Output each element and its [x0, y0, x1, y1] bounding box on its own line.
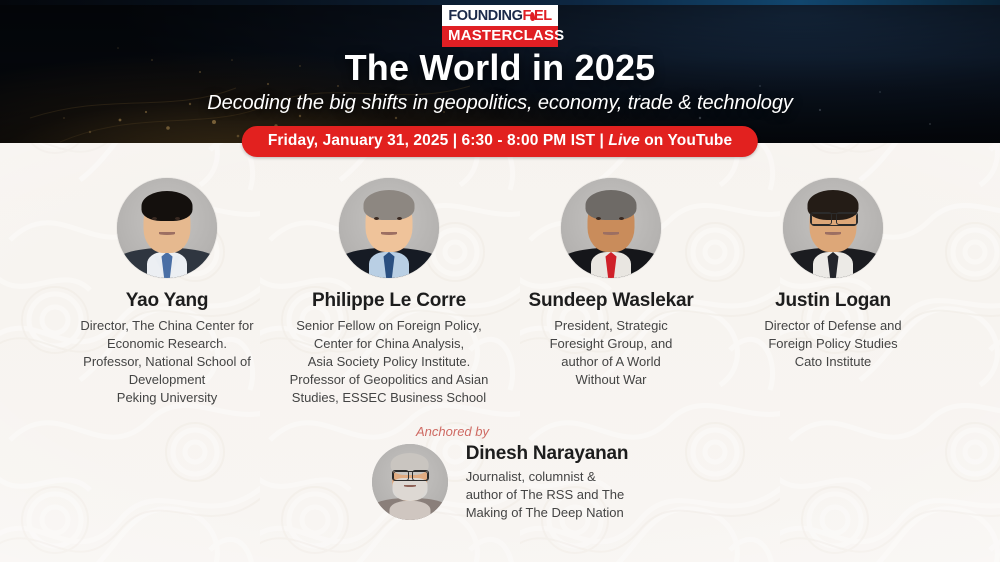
portrait-yao-yang: [117, 178, 217, 278]
logo-masterclass-text: MASTERCLASS: [442, 26, 558, 47]
logo-founding-text: FOUNDING: [448, 8, 522, 24]
logo-fuel-el: EL: [534, 8, 552, 24]
eyeglasses-icon: [393, 471, 428, 481]
date-banner-prefix: Friday, January 31, 2025 | 6:30 - 8:00 P…: [268, 132, 609, 149]
date-banner-suffix: on YouTube: [640, 132, 732, 149]
portrait-philippe-le-corre: [339, 178, 439, 278]
speaker-card: Yao Yang Director, The China Center for …: [56, 178, 278, 407]
anchor-bio: Journalist, columnist & author of The RS…: [466, 468, 629, 522]
logo-wordmark: FOUNDINGFEL: [442, 5, 558, 26]
date-banner-live: Live: [608, 132, 639, 149]
avatar: [783, 178, 883, 278]
page-title: The World in 2025: [0, 47, 1000, 89]
speaker-card: Sundeep Waslekar President, Strategic Fo…: [500, 178, 722, 389]
speaker-bio: Director, The China Center for Economic …: [62, 317, 272, 407]
avatar: [561, 178, 661, 278]
speaker-bio: President, Strategic Foresight Group, an…: [506, 317, 716, 389]
portrait-sundeep-waslekar: [561, 178, 661, 278]
avatar: [339, 178, 439, 278]
header-banner: FOUNDINGFEL MASTERCLASS The World in 202…: [0, 0, 1000, 143]
speakers-row: Yao Yang Director, The China Center for …: [0, 178, 1000, 407]
eyeglasses-icon: [811, 213, 857, 226]
avatar: [117, 178, 217, 278]
anchored-by-label: Anchored by: [0, 424, 1000, 439]
speaker-card: Justin Logan Director of Defense and For…: [722, 178, 944, 371]
portrait-dinesh-narayanan: [372, 444, 448, 520]
speaker-bio: Director of Defense and Foreign Policy S…: [728, 317, 938, 371]
portrait-justin-logan: [783, 178, 883, 278]
speaker-name: Sundeep Waslekar: [506, 290, 716, 312]
speaker-card: Philippe Le Corre Senior Fellow on Forei…: [278, 178, 500, 407]
speaker-name: Yao Yang: [62, 290, 272, 312]
speaker-bio: Senior Fellow on Foreign Policy, Center …: [284, 317, 494, 407]
anchor-section: Anchored by Dinesh Narayanan Journalist,: [0, 424, 1000, 525]
page-subtitle: Decoding the big shifts in geopolitics, …: [0, 92, 1000, 115]
webinar-poster: FOUNDINGFEL MASTERCLASS The World in 202…: [0, 0, 1000, 562]
event-date-banner: Friday, January 31, 2025 | 6:30 - 8:00 P…: [242, 126, 758, 157]
anchor-avatar: [372, 444, 448, 520]
anchor-name: Dinesh Narayanan: [466, 443, 629, 466]
speaker-name: Philippe Le Corre: [284, 290, 494, 312]
founding-fuel-masterclass-logo: FOUNDINGFEL MASTERCLASS: [442, 5, 558, 47]
speaker-name: Justin Logan: [728, 290, 938, 312]
